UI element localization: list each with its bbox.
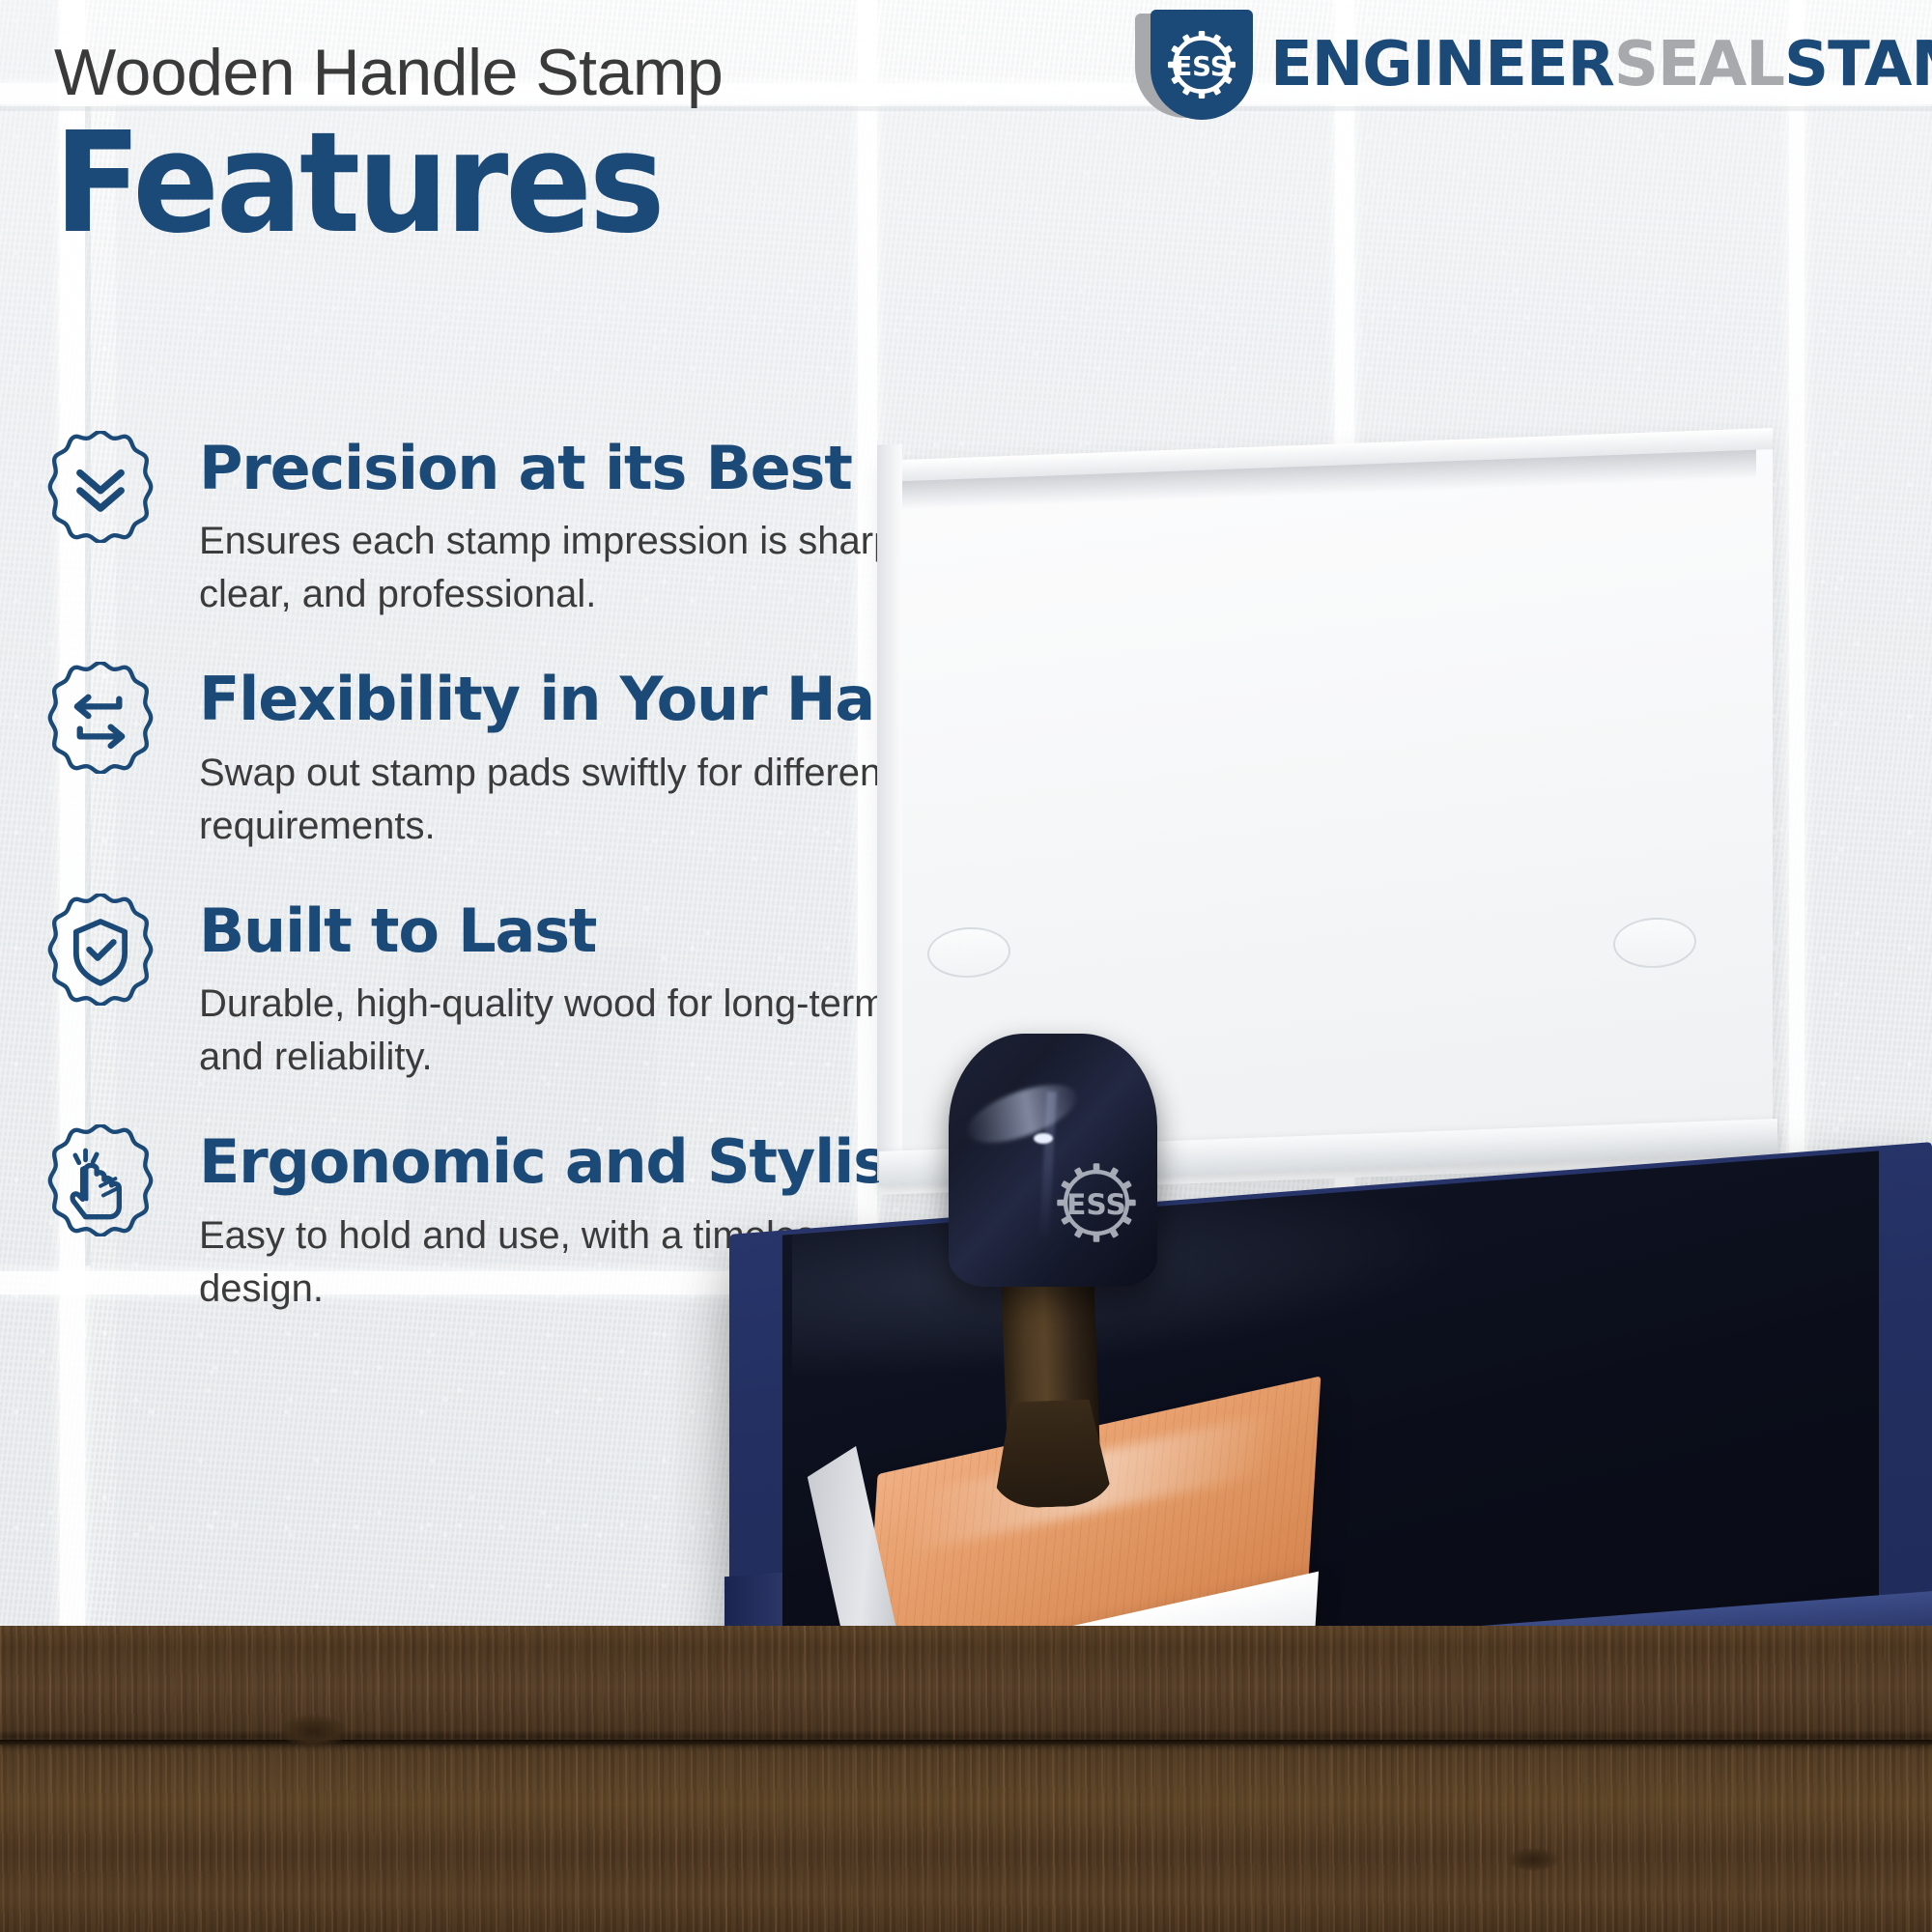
seal-swap-arrows-icon bbox=[44, 662, 156, 774]
seal-hand-tap-icon bbox=[44, 1124, 156, 1236]
feature-item: Flexibility in Your Hands Swap out stamp… bbox=[44, 668, 1020, 852]
table-wood-knot bbox=[1507, 1848, 1559, 1871]
logo-badge-text: ESS bbox=[1174, 50, 1229, 82]
handle-ess-gear-logo: ESS bbox=[1043, 1150, 1150, 1256]
gear-ring-icon: ESS bbox=[1157, 20, 1246, 109]
page-title: Features bbox=[54, 113, 1157, 252]
wooden-table-surface bbox=[0, 1626, 1932, 1932]
brand-logo[interactable]: ESS ENGINEER SEAL STAMPS .COM bbox=[1135, 8, 1918, 122]
page-subtitle: Wooden Handle Stamp bbox=[54, 39, 1136, 107]
header-block: Wooden Handle Stamp Features bbox=[54, 39, 1136, 252]
wordmark-engineer: ENGINEER bbox=[1270, 34, 1614, 96]
box-lid-left-edge bbox=[877, 444, 902, 1181]
stamp-handle-specular bbox=[1034, 1133, 1053, 1144]
feature-item: Precision at its Best Ensures each stamp… bbox=[44, 437, 1020, 621]
infographic-canvas: Wooden Handle Stamp Features bbox=[0, 0, 1932, 1932]
seal-shield-check-icon bbox=[44, 894, 156, 1006]
ess-badge-icon: ESS bbox=[1135, 8, 1253, 122]
handle-logo-text: ESS bbox=[1066, 1188, 1126, 1222]
feature-item: Built to Last Durable, high-quality wood… bbox=[44, 899, 1020, 1084]
logo-shield-shape: ESS bbox=[1151, 10, 1253, 120]
logo-wordmark: ENGINEER SEAL STAMPS .COM bbox=[1270, 26, 1932, 104]
wordmark-seal: SEAL bbox=[1614, 34, 1784, 96]
wordmark-stamps: STAMPS bbox=[1784, 34, 1932, 96]
seal-double-chevron-down-icon bbox=[44, 431, 156, 543]
table-wood-knot bbox=[280, 1715, 348, 1747]
table-wood-grain-fine bbox=[0, 1626, 1932, 1932]
